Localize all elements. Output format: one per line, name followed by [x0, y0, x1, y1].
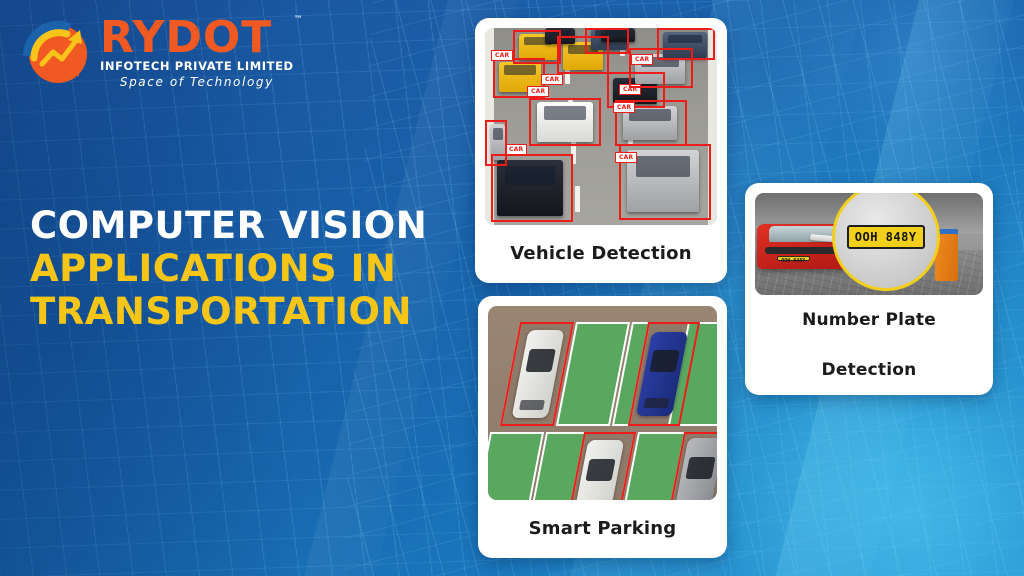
card-number-plate-detection[interactable]: OOH 848Y OOH 848Y Number Plate Detection: [745, 183, 993, 395]
page-title: COMPUTER VISION APPLICATIONS IN TRANSPOR…: [30, 205, 460, 334]
parking-lot-scene: [488, 306, 717, 500]
background-glow-top-right: [764, 0, 1024, 180]
detection-label: CAR: [541, 74, 563, 85]
trademark-icon: ™: [294, 16, 304, 24]
detection-label: CAR: [527, 86, 549, 97]
gate-barrier-scene: OOH 848Y OOH 848Y: [755, 193, 983, 295]
card-caption-plate: Number Plate Detection: [755, 295, 983, 395]
license-plate-zoomed: OOH 848Y: [847, 225, 925, 249]
card-caption-vehicle: Vehicle Detection: [485, 225, 717, 283]
license-plate-small: OOH 848Y: [777, 256, 810, 261]
number-plate-image: OOH 848Y OOH 848Y: [755, 193, 983, 295]
headline-line-1: COMPUTER VISION: [30, 205, 460, 248]
detection-label: CAR: [505, 144, 527, 155]
brand-logo: RYDOT ™ INFOTECH PRIVATE LIMITED Space o…: [22, 14, 294, 89]
brand-tagline: Space of Technology: [100, 75, 294, 89]
card-smart-parking[interactable]: Smart Parking: [478, 296, 727, 558]
detection-label: CAR: [491, 50, 513, 61]
card-vehicle-detection[interactable]: CAR CAR CAR CAR CAR CAR CAR CAR Vehicle …: [475, 18, 727, 283]
vehicle-detection-image: CAR CAR CAR CAR CAR CAR CAR CAR: [485, 28, 717, 225]
detection-label: CAR: [613, 102, 635, 113]
smart-parking-image: [488, 306, 717, 500]
headline-line-2: APPLICATIONS IN: [30, 248, 460, 291]
highway-scene: CAR CAR CAR CAR CAR CAR CAR CAR: [485, 28, 717, 225]
detection-label: CAR: [631, 54, 653, 65]
detection-label: CAR: [615, 152, 637, 163]
growth-chart-arrow-icon: [22, 16, 94, 88]
brand-text: RYDOT ™ INFOTECH PRIVATE LIMITED Space o…: [100, 14, 294, 89]
brand-subtitle: INFOTECH PRIVATE LIMITED: [100, 59, 294, 73]
headline-line-3: TRANSPORTATION: [30, 291, 460, 334]
brand-name: RYDOT ™: [100, 18, 294, 58]
brand-name-text: RYDOT: [100, 12, 272, 63]
card-caption-parking: Smart Parking: [488, 500, 717, 558]
